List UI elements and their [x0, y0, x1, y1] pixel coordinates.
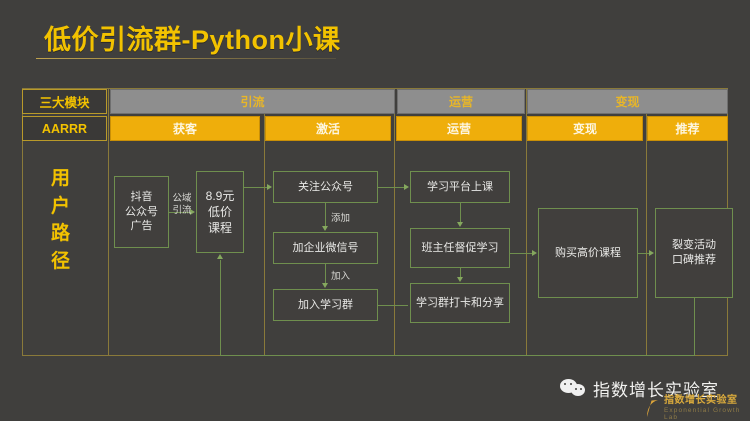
- connector-buy-to-fission: [638, 253, 649, 254]
- connector-wecom-to-group: [325, 264, 326, 284]
- flow-box-join-group[interactable]: 加入学习群: [273, 289, 378, 321]
- aarrr-cell-referral[interactable]: 推荐: [647, 116, 728, 141]
- flow-box-buy-label: 购买高价课程: [555, 246, 621, 261]
- aarrr-cell-retention[interactable]: 运营: [396, 116, 522, 141]
- row-label-modules: 三大模块: [22, 89, 107, 114]
- arrow-checkin-to-buy: [532, 250, 537, 256]
- flow-box-head-teacher-label: 班主任督促学习: [422, 241, 499, 256]
- page-title: 低价引流群-Python小课: [44, 18, 341, 57]
- brand-logo: 指数增长实验室 Exponential Growth Lab: [645, 396, 750, 421]
- slide-canvas: 低价引流群-Python小课 三大模块 引流 运营 变现 AARRR 获客 激活…: [0, 0, 750, 421]
- connector-follow-to-wecom: [325, 203, 326, 227]
- flow-box-group-checkin[interactable]: 学习群打卡和分享: [410, 283, 510, 323]
- edge-label-public-traffic: 公域 引流: [168, 193, 196, 217]
- flow-box-learning-platform[interactable]: 学习平台上课: [410, 171, 510, 203]
- arrow-wecom-to-group: [322, 283, 328, 288]
- connector-checkin-to-buy: [510, 253, 532, 254]
- logo-text-en: Exponential Growth Lab: [664, 408, 750, 421]
- row-label-user-path: 用 户 路 径: [40, 165, 82, 275]
- flow-box-head-teacher[interactable]: 班主任督促学习: [410, 228, 510, 268]
- arrow-platform-to-teacher: [457, 222, 463, 227]
- flow-box-group-checkin-label: 学习群打卡和分享: [416, 296, 504, 311]
- flow-box-add-wecom-label: 加企业微信号: [293, 241, 359, 256]
- module-header-row: 三大模块 引流 运营 变现: [22, 89, 728, 114]
- arrow-feedback-into-course: [217, 254, 223, 259]
- flow-box-course-label: 8.9元 低价 课程: [206, 188, 235, 237]
- connector-feedback-down: [694, 298, 695, 355]
- title-divider: [36, 58, 336, 59]
- flow-box-follow-official-account[interactable]: 关注公众号: [273, 171, 378, 203]
- flow-box-follow-label: 关注公众号: [298, 180, 353, 195]
- growth-arrow-icon: [645, 399, 660, 418]
- flow-box-add-wecom[interactable]: 加企业微信号: [273, 232, 378, 264]
- aarrr-cell-activation[interactable]: 激活: [265, 116, 391, 141]
- user-path-char-3: 路: [40, 220, 82, 248]
- arrow-follow-to-platform: [404, 184, 409, 190]
- connector-group-to-checkin: [378, 305, 408, 306]
- row-label-aarrr: AARRR: [22, 116, 107, 141]
- flow-box-join-group-label: 加入学习群: [298, 298, 353, 313]
- aarrr-cell-revenue[interactable]: 变现: [527, 116, 643, 141]
- edge-label-add: 添加: [331, 210, 350, 224]
- flow-box-fission-label: 裂变活动 口碑推荐: [672, 238, 716, 268]
- connector-course-to-follow: [244, 187, 267, 188]
- flow-box-learning-platform-label: 学习平台上课: [427, 180, 493, 195]
- arrow-teacher-to-checkin: [457, 277, 463, 282]
- edge-label-join: 加入: [331, 268, 350, 282]
- logo-text-cn: 指数增长实验室: [664, 396, 750, 406]
- flow-box-fission-referral[interactable]: 裂变活动 口碑推荐: [655, 208, 733, 298]
- arrow-course-to-follow: [267, 184, 272, 190]
- user-path-char-1: 用: [40, 165, 82, 193]
- flow-box-douyin[interactable]: 抖音 公众号 广告: [114, 176, 169, 248]
- flow-box-douyin-label: 抖音 公众号 广告: [125, 190, 158, 235]
- arrow-buy-to-fission: [649, 250, 654, 256]
- user-path-char-2: 户: [40, 193, 82, 221]
- flow-box-buy-premium-course[interactable]: 购买高价课程: [538, 208, 638, 298]
- connector-platform-to-teacher: [460, 203, 461, 223]
- arrow-follow-to-wecom: [322, 226, 328, 231]
- user-path-char-4: 径: [40, 248, 82, 276]
- aarrr-header-row: AARRR 获客 激活 运营 变现 推荐: [22, 116, 728, 141]
- module-cell-bianxian[interactable]: 变现: [527, 89, 728, 114]
- module-cell-liuliang[interactable]: 引流: [110, 89, 395, 114]
- wechat-icon: [560, 379, 586, 399]
- aarrr-cell-acquisition[interactable]: 获客: [110, 116, 260, 141]
- connector-follow-to-platform: [378, 187, 404, 188]
- flow-box-course[interactable]: 8.9元 低价 课程: [196, 171, 244, 253]
- connector-feedback-left: [220, 355, 695, 356]
- module-cell-yunying[interactable]: 运营: [397, 89, 525, 114]
- connector-feedback-up: [220, 260, 221, 356]
